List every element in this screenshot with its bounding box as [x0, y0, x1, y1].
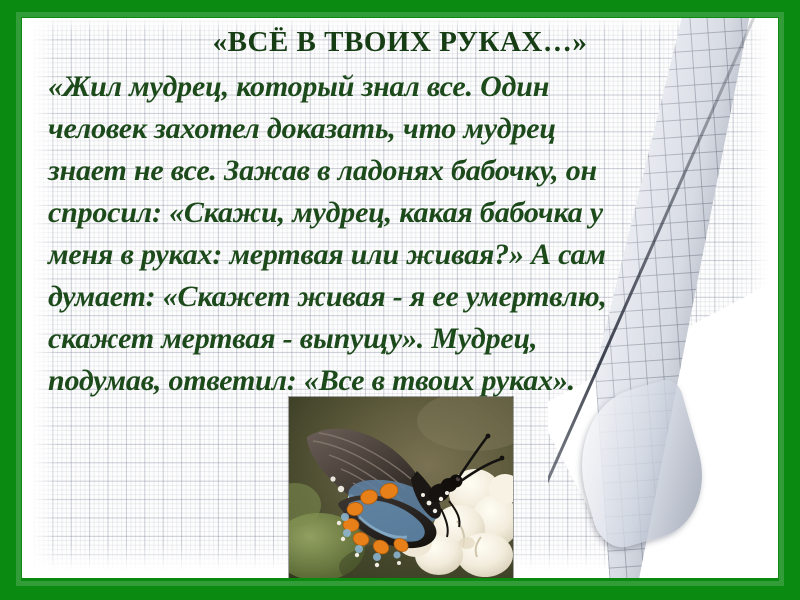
text-line: знает не все. Зажав в ладонях бабочку, о…	[48, 150, 754, 192]
paper-sheet: «ВСЁ В ТВОИХ РУКАХ…» «Жил мудрец, которы…	[22, 18, 778, 578]
text-line: скажет мертвая - выпущу». Мудрец,	[48, 318, 754, 360]
slide-title: «ВСЁ В ТВОИХ РУКАХ…»	[22, 26, 778, 59]
slide-content: «ВСЁ В ТВОИХ РУКАХ…» «Жил мудрец, которы…	[22, 18, 778, 578]
text-line: спросил: «Скажи, мудрец, какая бабочка у	[48, 192, 754, 234]
butterfly-photo	[289, 397, 513, 578]
body-paragraph: «Жил мудрец, который знал все. Один чело…	[48, 66, 754, 402]
text-line: думает: «Скажет живая - я ее умертвлю,	[48, 276, 754, 318]
slide-frame: «ВСЁ В ТВОИХ РУКАХ…» «Жил мудрец, которы…	[0, 0, 800, 600]
text-line: «Жил мудрец, который знал все. Один	[48, 66, 754, 108]
text-line: человек захотел доказать, что мудрец	[48, 108, 754, 150]
text-line: подумав, ответил: «Все в твоих руках».	[48, 360, 754, 402]
text-line: меня в руках: мертвая или живая?» А сам	[48, 234, 754, 276]
butterfly-illustration	[289, 397, 513, 578]
